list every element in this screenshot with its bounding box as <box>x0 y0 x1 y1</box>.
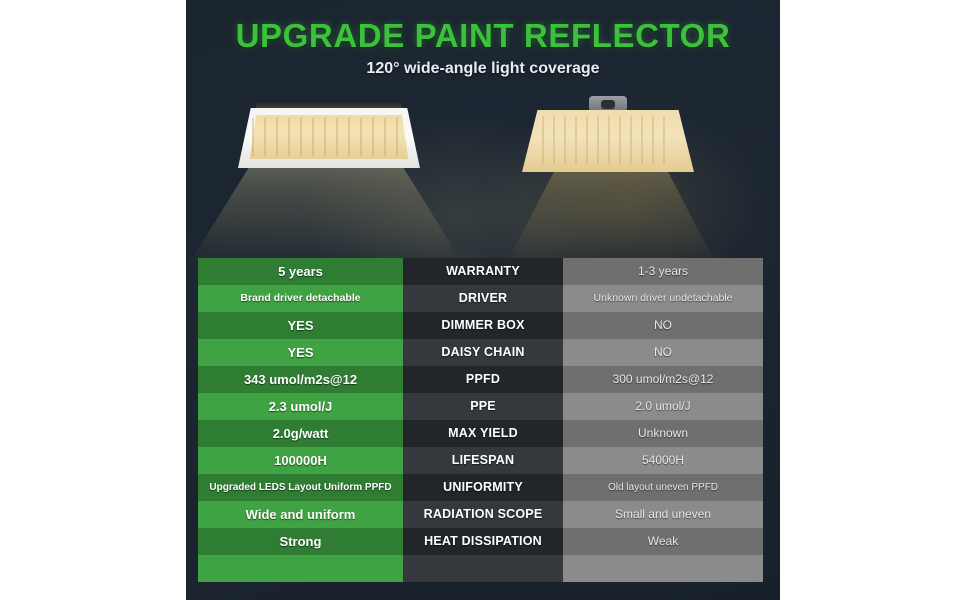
column-spec-labels: WARRANTY DRIVER DIMMER BOX DAISY CHAIN P… <box>403 258 563 600</box>
table-cell-theirs: 2.0 umol/J <box>563 393 763 420</box>
content-panel: UPGRADE PAINT REFLECTOR 120° wide-angle … <box>186 0 780 600</box>
table-cell-label: PPFD <box>403 366 563 393</box>
page-title: UPGRADE PAINT REFLECTOR <box>186 17 780 55</box>
table-cell-label: DIMMER BOX <box>403 312 563 339</box>
table-cell-ours: 100000H <box>198 447 403 474</box>
table-cell-ours: YES <box>198 312 403 339</box>
table-cell-ours <box>198 555 403 582</box>
table-cell-theirs: 300 umol/m2s@12 <box>563 366 763 393</box>
table-cell-ours: Upgraded LEDS Layout Uniform PPFD <box>198 474 403 501</box>
upgraded-led-panel-image <box>238 108 420 168</box>
column-our-product: 5 years Brand driver detachable YES YES … <box>198 258 403 600</box>
table-cell-label: MAX YIELD <box>403 420 563 447</box>
table-cell-label: LIFESPAN <box>403 447 563 474</box>
infographic-canvas: UPGRADE PAINT REFLECTOR 120° wide-angle … <box>0 0 960 600</box>
table-cell-label: WARRANTY <box>403 258 563 285</box>
table-cell-theirs: NO <box>563 312 763 339</box>
table-cell-ours: Wide and uniform <box>198 501 403 528</box>
table-cell-label: UNIFORMITY <box>403 474 563 501</box>
table-cell-theirs: NO <box>563 339 763 366</box>
product-hero-images <box>186 86 780 258</box>
table-cell-label: PPE <box>403 393 563 420</box>
led-strips <box>252 118 406 156</box>
table-cell-theirs: Old layout uneven PPFD <box>563 474 763 501</box>
table-cell-label <box>403 555 563 582</box>
table-cell-ours: 2.3 umol/J <box>198 393 403 420</box>
table-cell-ours: YES <box>198 339 403 366</box>
table-cell-ours: Strong <box>198 528 403 555</box>
table-cell-label: DRIVER <box>403 285 563 312</box>
table-cell-ours: 343 umol/m2s@12 <box>198 366 403 393</box>
table-cell-theirs <box>563 555 763 582</box>
table-cell-theirs: Unknown <box>563 420 763 447</box>
table-cell-theirs: 54000H <box>563 447 763 474</box>
table-cell-ours: Brand driver detachable <box>198 285 403 312</box>
standard-led-panel-image <box>522 110 694 172</box>
table-cell-ours: 5 years <box>198 258 403 285</box>
panel-hanger-bracket <box>589 96 627 112</box>
led-strips <box>542 116 674 164</box>
table-cell-theirs: Unknown driver undetachable <box>563 285 763 312</box>
table-cell-label: RADIATION SCOPE <box>403 501 563 528</box>
table-cell-theirs: Weak <box>563 528 763 555</box>
column-competitor-product: 1-3 years Unknown driver undetachable NO… <box>563 258 763 600</box>
page-subtitle: 120° wide-angle light coverage <box>186 60 780 78</box>
table-cell-theirs: Small and uneven <box>563 501 763 528</box>
comparison-table: 5 years Brand driver detachable YES YES … <box>198 258 775 600</box>
table-cell-label: HEAT DISSIPATION <box>403 528 563 555</box>
table-cell-label: DAISY CHAIN <box>403 339 563 366</box>
table-cell-ours: 2.0g/watt <box>198 420 403 447</box>
table-cell-theirs: 1-3 years <box>563 258 763 285</box>
